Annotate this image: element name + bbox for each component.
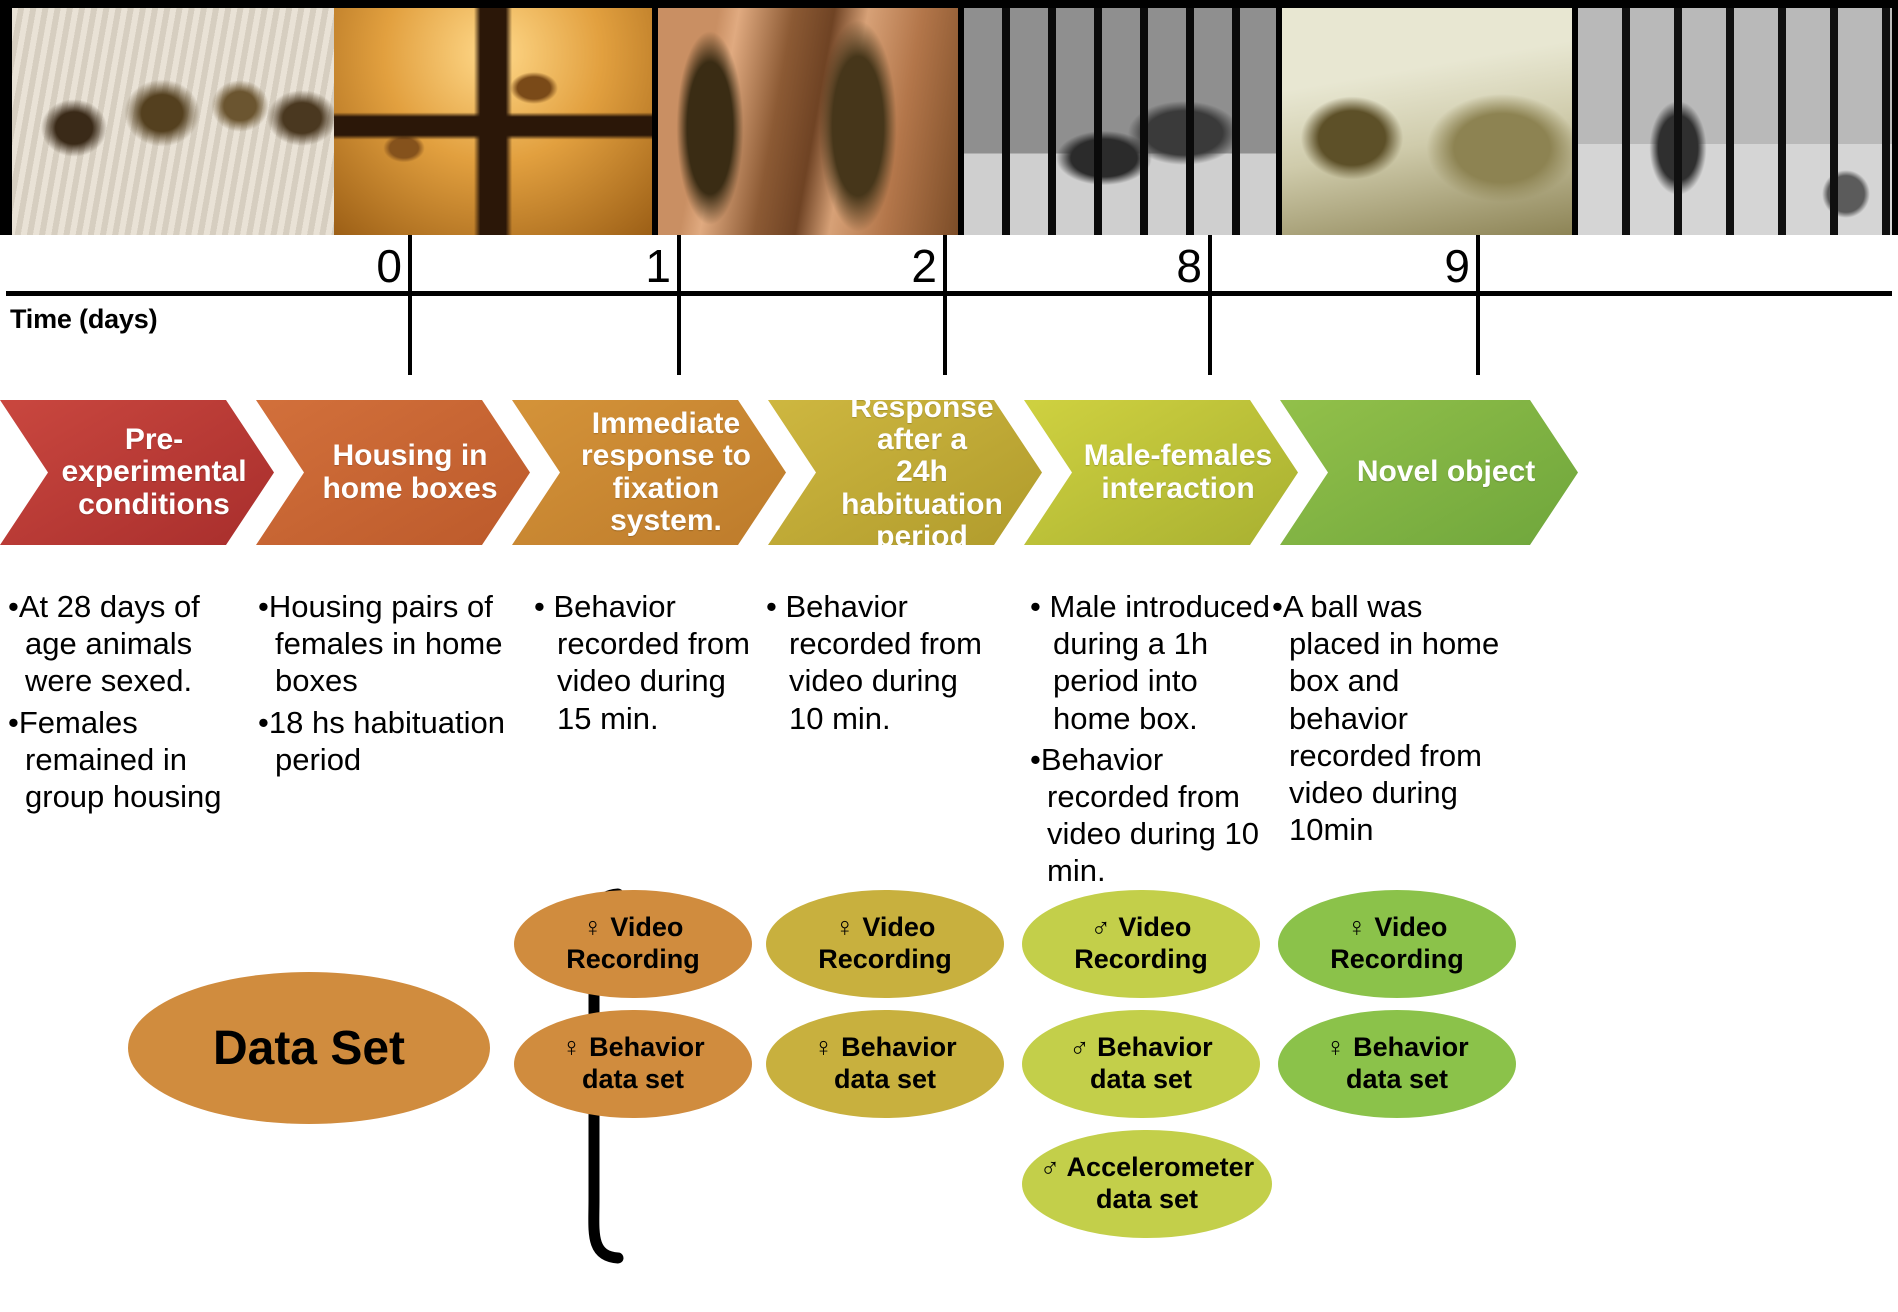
timeline-tick-label-1: 1 — [645, 239, 671, 293]
phase-arrow-label-response-after-24h-habituation-period: Response after a 24h habituation period — [768, 392, 1042, 554]
bullet-column-pre-experimental-conditions: •At 28 days of age animals were sexed.•F… — [8, 588, 258, 819]
phase-arrow-label-pre-experimental-conditions: Pre- experimental conditions — [15, 424, 258, 521]
dataset-oval-female-behavior-data-set-3[interactable]: ♀ Behavior data set — [1278, 1010, 1516, 1118]
dataset-oval-label: ♂ Accelerometer data set — [1040, 1152, 1254, 1216]
bullet-column-immediate-response-to-fixation-system: • Behavior recorded from video during 15… — [534, 588, 766, 741]
timeline-tick-0 — [408, 235, 412, 375]
bullet-item: • Behavior recorded from video during 10… — [766, 588, 998, 737]
dataset-oval-female-video-recording-1[interactable]: ♀ Video Recording — [514, 890, 752, 998]
timeline-tick-label-9: 9 — [1444, 239, 1470, 293]
timeline-axis: 01289 — [0, 235, 1898, 325]
phase-arrow-label-immediate-response-to-fixation-system: Immediate response to fixation system. — [535, 408, 763, 538]
dataset-oval-female-behavior-data-set-1[interactable]: ♀ Behavior data set — [514, 1010, 752, 1118]
dataset-oval-label: ♀ Video Recording — [818, 912, 952, 976]
phase-arrow-response-after-24h-habituation-period[interactable]: Response after a 24h habituation period — [768, 400, 1042, 545]
timeline-tick-8 — [1208, 235, 1212, 375]
bullet-item: •Housing pairs of females in home boxes — [258, 588, 506, 700]
timeline-tick-label-2: 2 — [911, 239, 937, 293]
dataset-oval-male-accelerometer-data-set[interactable]: ♂ Accelerometer data set — [1022, 1130, 1272, 1238]
bullet-column-housing-in-home-boxes: •Housing pairs of females in home boxes•… — [258, 588, 506, 782]
dataset-oval-label: ♀ Video Recording — [566, 912, 700, 976]
timeline-tick-1 — [677, 235, 681, 375]
novel-object-photo — [1578, 8, 1892, 235]
dataset-oval-label: ♀ Behavior data set — [1325, 1032, 1468, 1096]
phase-arrow-label-male-females-interaction: Male-females interaction — [1038, 440, 1284, 505]
phase-arrow-pre-experimental-conditions[interactable]: Pre- experimental conditions — [0, 400, 274, 545]
dataset-section: Data Set ♀ Video Recording♀ Behavior dat… — [0, 880, 1898, 1312]
dataset-oval-female-video-recording-2[interactable]: ♀ Video Recording — [766, 890, 1004, 998]
photo-strip — [0, 0, 1898, 235]
dataset-oval-label: ♂ Video Recording — [1074, 912, 1208, 976]
phase-arrow-novel-object[interactable]: Novel object — [1280, 400, 1578, 545]
phase-arrow-housing-in-home-boxes[interactable]: Housing in home boxes — [256, 400, 530, 545]
timeline-tick-9 — [1476, 235, 1480, 375]
quail-chicks-photo — [12, 8, 334, 235]
bullet-column-male-females-interaction: • Male introduced during a 1h period int… — [1030, 588, 1272, 894]
bullet-item: • Male introduced during a 1h period int… — [1030, 588, 1272, 737]
fixation-system-photo — [658, 8, 958, 235]
bullet-column-response-after-24h-habituation-period: • Behavior recorded from video during 10… — [766, 588, 998, 741]
data-set-main-oval: Data Set — [128, 972, 490, 1124]
dataset-oval-male-video-recording[interactable]: ♂ Video Recording — [1022, 890, 1260, 998]
timeline-baseline — [6, 291, 1892, 296]
bullet-item: •18 hs habituation period — [258, 704, 506, 778]
dataset-oval-male-behavior-data-set[interactable]: ♂ Behavior data set — [1022, 1010, 1260, 1118]
timeline-tick-label-0: 0 — [376, 239, 402, 293]
phase-arrow-label-housing-in-home-boxes: Housing in home boxes — [276, 440, 509, 505]
dataset-oval-label: ♂ Behavior data set — [1069, 1032, 1212, 1096]
bullet-column-novel-object: •A ball was placed in home box and behav… — [1272, 588, 1522, 852]
dataset-oval-label: ♀ Behavior data set — [561, 1032, 704, 1096]
phase-arrow-male-females-interaction[interactable]: Male-females interaction — [1024, 400, 1298, 545]
phase-arrow-label-novel-object: Novel object — [1311, 456, 1547, 488]
bullet-item: •Behavior recorded from video during 10 … — [1030, 741, 1272, 890]
timeline-axis-label: Time (days) — [10, 304, 157, 335]
data-set-main-label: Data Set — [213, 1021, 405, 1076]
caged-pair-photo — [964, 8, 1276, 235]
phase-arrow-immediate-response-to-fixation-system[interactable]: Immediate response to fixation system. — [512, 400, 786, 545]
bullet-item: • Behavior recorded from video during 15… — [534, 588, 766, 737]
bullet-item: •Females remained in group housing — [8, 704, 258, 816]
male-female-interaction-photo — [1282, 8, 1572, 235]
home-boxes-photo — [334, 8, 652, 235]
timeline-tick-label-8: 8 — [1176, 239, 1202, 293]
bullet-item: •A ball was placed in home box and behav… — [1272, 588, 1522, 848]
phase-arrow-band: Pre- experimental conditionsHousing in h… — [0, 400, 1898, 545]
timeline-tick-2 — [943, 235, 947, 375]
bullet-item: •At 28 days of age animals were sexed. — [8, 588, 258, 700]
dataset-oval-female-behavior-data-set-2[interactable]: ♀ Behavior data set — [766, 1010, 1004, 1118]
dataset-oval-label: ♀ Behavior data set — [813, 1032, 956, 1096]
dataset-oval-female-video-recording-3[interactable]: ♀ Video Recording — [1278, 890, 1516, 998]
dataset-oval-label: ♀ Video Recording — [1330, 912, 1464, 976]
